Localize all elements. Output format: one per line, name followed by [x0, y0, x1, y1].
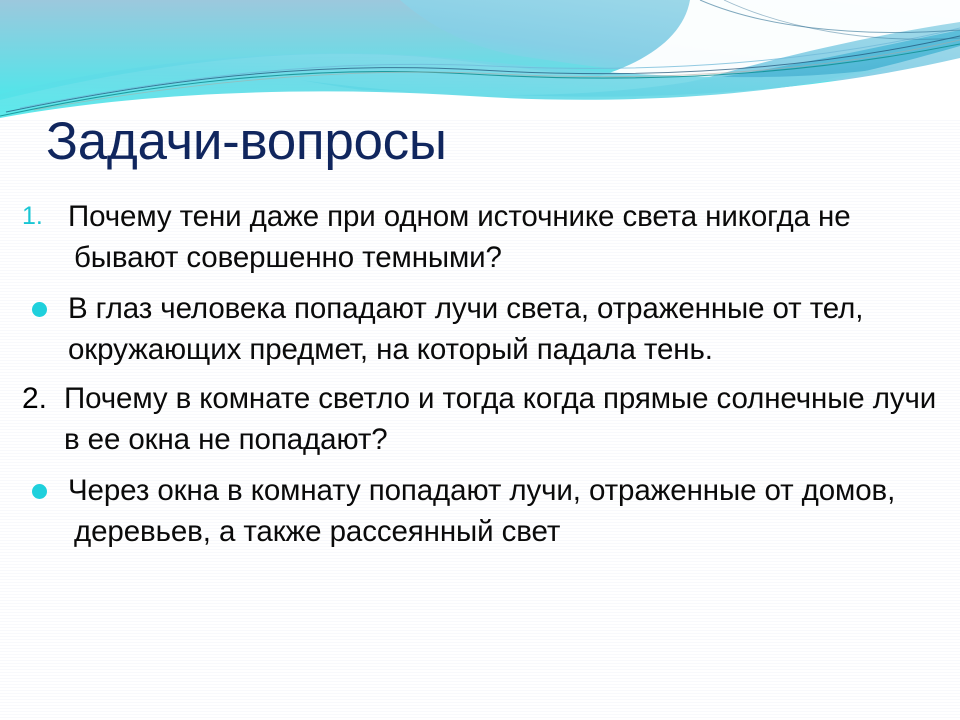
wave-band-base — [0, 0, 960, 100]
list-item: 1. Почему тени даже при одном источнике … — [0, 196, 960, 278]
list-item-text: В глаз человека попадают лучи света, отр… — [0, 288, 946, 370]
list-marker-number: 1. — [22, 196, 68, 237]
bullet-dot-icon — [32, 484, 47, 499]
list-item: В глаз человека попадают лучи света, отр… — [0, 288, 960, 370]
wave-line-corner-a — [700, 0, 960, 32]
list-marker-number: 2. — [22, 378, 68, 419]
list-item-text: Почему в комнате светло и тогда когда пр… — [0, 378, 946, 460]
wave-header-graphic — [0, 0, 960, 118]
list-item: Через окна в комнату попадают лучи, отра… — [0, 470, 960, 552]
bullet-dot-icon — [32, 302, 47, 317]
title-placeholder: Задачи-вопросы — [46, 113, 926, 170]
wave-line-teal — [0, 44, 960, 116]
list-item-text: Почему тени даже при одном источнике све… — [0, 196, 946, 278]
wave-line-warmgray — [34, 40, 960, 110]
wave-band-turquoise — [0, 53, 900, 118]
content-placeholder: 1. Почему тени даже при одном источнике … — [0, 196, 960, 552]
wave-line-navy — [6, 36, 960, 112]
wave-band-white-upper — [470, 0, 960, 99]
wave-band-mid — [300, 30, 960, 105]
page-title: Задачи-вопросы — [46, 113, 926, 170]
wave-band-white-lower — [0, 58, 960, 118]
list-item-text: Через окна в комнату попадают лучи, отра… — [0, 470, 946, 552]
wave-band-sky — [400, 0, 960, 81]
wave-line-corner-b — [724, 0, 960, 39]
list-item: 2. Почему в комнате светло и тогда когда… — [0, 378, 960, 460]
presentation-slide: Задачи-вопросы 1. Почему тени даже при о… — [0, 0, 960, 720]
wave-line-lightblue — [20, 28, 960, 108]
